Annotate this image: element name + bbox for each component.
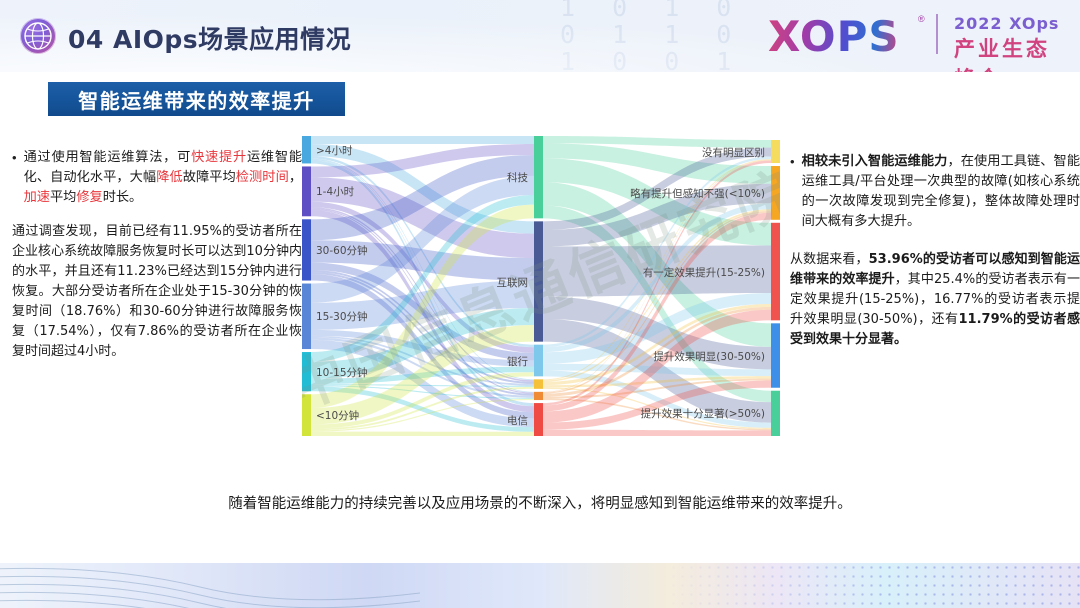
logo-divider	[936, 14, 938, 54]
left-bullet: • 通过使用智能运维算法，可快速提升运维智能化、自动化水平，大幅降低故障平均检测…	[12, 148, 302, 208]
event-logo: XOPS ® 2022 XOps 产业生态峰会	[768, 8, 1068, 64]
sankey-node[interactable]	[534, 392, 543, 400]
bottom-decoration	[0, 563, 1080, 608]
left-paragraph: 通过调查发现，目前已经有11.95%的受访者所在企业核心系统故障服务恢复时长可以…	[12, 222, 302, 362]
sankey-node[interactable]	[771, 166, 780, 220]
page-title: 04 AIOps场景应用情况	[68, 20, 351, 56]
text-segment: ，	[289, 170, 302, 185]
logo-subtitle: 产业生态峰会	[954, 33, 1068, 72]
left-text-column: • 通过使用智能运维算法，可快速提升运维智能化、自动化水平，大幅降低故障平均检测…	[12, 148, 302, 362]
text-segment: 从数据来看，	[790, 252, 869, 267]
sankey-node-label: 30-60分钟	[316, 243, 368, 258]
sankey-node-label: 略有提升但感知不强(<10%)	[302, 186, 765, 201]
text-segment: 故障平均	[183, 170, 236, 185]
sankey-node-label: 15-30分钟	[316, 309, 368, 324]
section-heading-label: 智能运维带来的效率提升	[78, 85, 315, 114]
right-text-column: • 相较未引入智能运维能力，在使用工具链、智能运维工具/平台处理一次典型的故障(…	[790, 152, 1080, 350]
sankey-node-label: 提升效果十分显著(>50%)	[302, 406, 765, 421]
text-segment: 加速	[24, 190, 50, 205]
sankey-node-label: 提升效果明显(30-50%)	[302, 349, 765, 364]
top-banner: 1 0 1 0 0 1 1 0 1 0 0 1 04 AIOps场景应用情况 X…	[0, 0, 1080, 72]
bullet-dot-icon: •	[790, 152, 795, 171]
text-segment: 快速提升	[191, 150, 247, 165]
sankey-node-label: 有一定效果提升(15-25%)	[302, 265, 765, 280]
sankey-node-label: 科技	[302, 170, 528, 185]
sankey-node[interactable]	[771, 140, 780, 163]
section-heading-bar: 智能运维带来的效率提升	[48, 82, 345, 116]
registered-mark-icon: ®	[918, 14, 925, 24]
text-segment: 检测时间	[236, 170, 289, 185]
text-segment: 平均	[50, 190, 76, 205]
text-segment: 降低	[156, 170, 183, 185]
bullet-dot-icon: •	[12, 148, 17, 167]
text-segment: 时长。	[103, 190, 143, 205]
left-bullet-text: 通过使用智能运维算法，可快速提升运维智能化、自动化水平，大幅降低故障平均检测时间…	[24, 148, 302, 208]
sankey-link	[543, 430, 771, 436]
sankey-chart: 中国信息通信研究院 >4小时1-4小时30-60分钟15-30分钟10-15分钟…	[302, 130, 780, 442]
halftone-dots	[660, 563, 1080, 608]
sankey-node[interactable]	[771, 223, 780, 321]
text-segment: 通过使用智能运维算法，可	[24, 150, 192, 165]
logo-wordmark: XOPS	[768, 12, 900, 61]
right-paragraph: 从数据来看，53.96%的受访者可以感知到智能运维带来的效率提升，其中25.4%…	[790, 250, 1080, 350]
text-segment: 修复	[76, 190, 102, 205]
sankey-node[interactable]	[302, 284, 311, 350]
sankey-node[interactable]	[771, 323, 780, 387]
sankey-node[interactable]	[771, 391, 780, 436]
globe-icon	[20, 18, 56, 54]
sankey-node-label: 没有明显区别	[302, 145, 765, 160]
text-segment: 相较未引入智能运维能力	[802, 154, 948, 169]
sankey-link	[311, 432, 534, 436]
sankey-node[interactable]	[534, 379, 543, 389]
logo-year: 2022 XOps	[954, 14, 1059, 33]
right-bullet: • 相较未引入智能运维能力，在使用工具链、智能运维工具/平台处理一次典型的故障(…	[790, 152, 1080, 232]
right-bullet-text: 相较未引入智能运维能力，在使用工具链、智能运维工具/平台处理一次典型的故障(如核…	[802, 152, 1080, 232]
sankey-node[interactable]	[534, 221, 543, 341]
footer-caption: 随着智能运维能力的持续完善以及应用场景的不断深入，将明显感知到智能运维带来的效率…	[0, 492, 1080, 513]
slide: 1 0 1 0 0 1 1 0 1 0 0 1 04 AIOps场景应用情况 X…	[0, 0, 1080, 608]
